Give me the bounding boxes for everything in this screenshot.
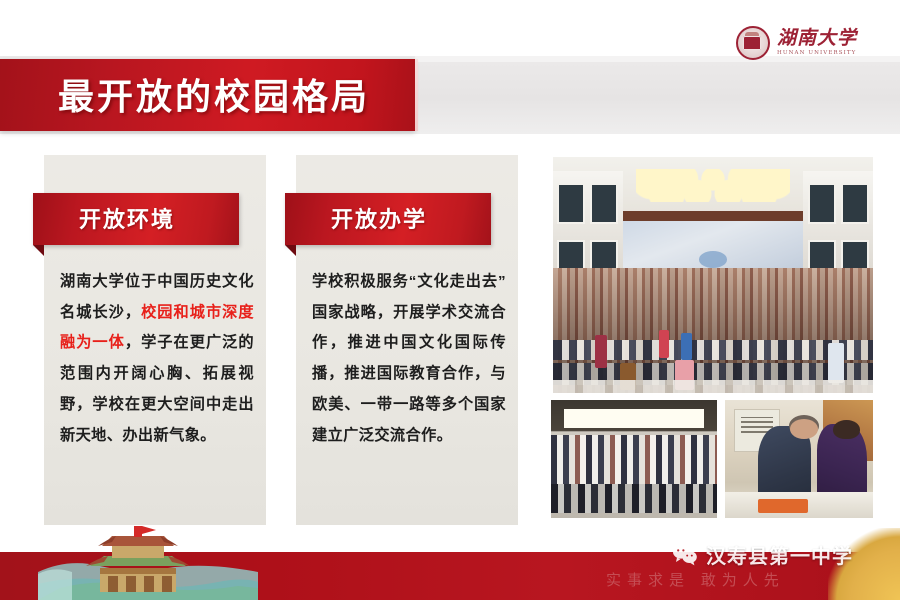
photo-scene bbox=[725, 400, 873, 518]
card-heading-label: 开放环境 bbox=[79, 202, 175, 234]
student-rows bbox=[551, 435, 717, 513]
card-heading-ribbon: 开放办学 bbox=[285, 193, 491, 245]
person-left-head bbox=[790, 419, 818, 439]
logo-name-en: HUNAN UNIVERSITY bbox=[777, 51, 857, 57]
crowd-person bbox=[595, 335, 608, 368]
footer-motto: 实事求是 敢为人先 bbox=[606, 569, 785, 590]
window bbox=[557, 183, 585, 224]
watermark-label: 汉寿县第一中学 bbox=[706, 540, 853, 569]
title-banner: 最开放的校园格局 bbox=[0, 59, 415, 131]
card-body-text: 湖南大学位于中国历史文化名城长沙，校园和城市深度融为一体，学子在更广泛的范围内开… bbox=[60, 267, 254, 451]
calligraphy-activity-photo bbox=[725, 400, 873, 518]
slide-canvas: 最开放的校园格局 湖南大学 HUNAN UNIVERSITY 开放环境 湖南大学… bbox=[0, 0, 900, 600]
wechat-icon bbox=[672, 544, 698, 566]
photo-scene bbox=[553, 157, 873, 393]
hunan-university-logo: 湖南大学 HUNAN UNIVERSITY bbox=[736, 22, 876, 64]
page-title: 最开放的校园格局 bbox=[58, 68, 370, 120]
crowd-person bbox=[681, 333, 692, 361]
card-heading-label: 开放办学 bbox=[331, 202, 427, 234]
front-tables bbox=[553, 380, 873, 393]
logo-wordmark: 湖南大学 HUNAN UNIVERSITY bbox=[777, 29, 857, 57]
students-group-photo bbox=[551, 400, 717, 518]
logo-name-cn: 湖南大学 bbox=[777, 29, 857, 48]
crowd-person bbox=[659, 330, 670, 358]
stage-lamps bbox=[564, 409, 703, 428]
auditorium-group-photo bbox=[553, 157, 873, 393]
ribbon-fold-shape bbox=[285, 245, 296, 256]
red-paper bbox=[758, 499, 808, 513]
person-right-head bbox=[833, 420, 860, 439]
photo-scene bbox=[551, 400, 717, 518]
ribbon-fold-shape bbox=[33, 245, 44, 256]
card-heading-ribbon: 开放环境 bbox=[33, 193, 239, 245]
ceiling-lights bbox=[636, 169, 790, 202]
content-card-open-education: 开放办学 学校积极服务“文化走出去”国家战略，开展学术交流合作，推进中国文化国际… bbox=[296, 155, 518, 525]
crowd-person bbox=[828, 343, 844, 383]
crowd bbox=[553, 268, 873, 393]
window bbox=[841, 183, 869, 224]
card-body-text: 学校积极服务“文化走出去”国家战略，开展学术交流合作，推进中国文化国际传播，推进… bbox=[312, 267, 506, 451]
wechat-watermark: 汉寿县第一中学 bbox=[672, 540, 853, 569]
card-body-part-1: 学校积极服务“文化走出去”国家战略，开展学术交流合作，推进中国文化国际传播，推进… bbox=[312, 273, 506, 444]
window bbox=[590, 183, 618, 224]
window bbox=[808, 183, 836, 224]
yuelu-pavilion-illustration bbox=[38, 522, 258, 600]
university-seal-icon bbox=[736, 26, 770, 60]
content-card-open-environment: 开放环境 湖南大学位于中国历史文化名城长沙，校园和城市深度融为一体，学子在更广泛… bbox=[44, 155, 266, 525]
